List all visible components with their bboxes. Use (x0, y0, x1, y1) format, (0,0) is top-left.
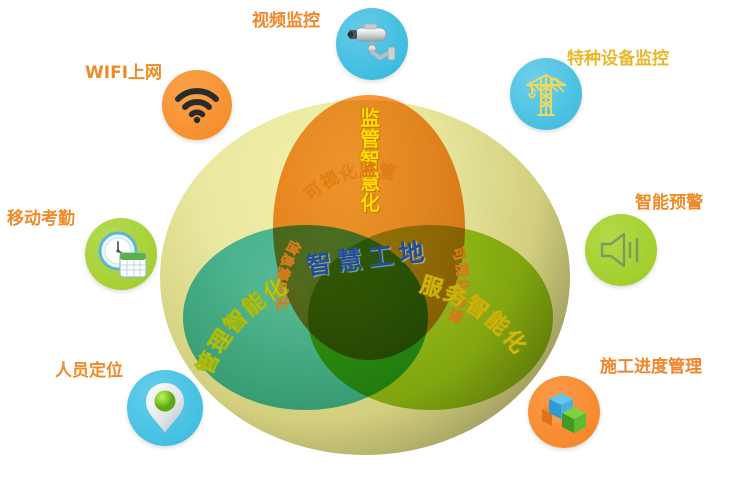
node-smart-warning-label: 智能预警 (635, 188, 703, 213)
node-personnel-locating-label: 人员定位 (55, 356, 123, 381)
node-special-equipment-circle[interactable] (510, 58, 582, 130)
node-mobile-attendance-label: 移动考勤 (7, 204, 75, 229)
node-wifi-label: WIFI上网 (85, 58, 162, 83)
venn-lobe-supervision-label: 监 管 智 慧 化 (343, 108, 397, 214)
infographic-canvas: 监 管 智 慧 化 可视化监管 信息集成化 可视化决策 (0, 0, 729, 479)
node-progress-management-circle[interactable] (528, 376, 600, 448)
venn-diagram: 监 管 智 慧 化 可视化监管 信息集成化 可视化决策 (160, 100, 570, 460)
map-pin-icon (144, 381, 186, 435)
speaker-alert-icon (598, 230, 644, 270)
node-mobile-attendance-circle[interactable] (85, 218, 157, 290)
clock-calendar-icon (94, 229, 148, 279)
node-wifi-circle[interactable] (162, 70, 232, 140)
node-video-surveillance-circle[interactable] (336, 8, 408, 80)
vchar-4: 化 (343, 193, 397, 214)
cctv-camera-icon (346, 22, 398, 66)
node-progress-management-label: 施工进度管理 (600, 352, 702, 377)
node-smart-warning-circle[interactable] (585, 214, 657, 286)
cubes-icon (538, 387, 590, 437)
node-special-equipment-label: 特种设备监控 (567, 44, 669, 69)
node-personnel-locating-circle[interactable] (127, 370, 203, 446)
vchar-2: 智 (343, 150, 397, 171)
vchar-3: 慧 (343, 172, 397, 193)
node-video-surveillance-label: 视频监控 (252, 6, 320, 31)
vchar-1: 管 (343, 129, 397, 150)
vchar-0: 监 (343, 108, 397, 129)
tower-crane-icon (521, 69, 571, 119)
wifi-icon (174, 86, 220, 124)
